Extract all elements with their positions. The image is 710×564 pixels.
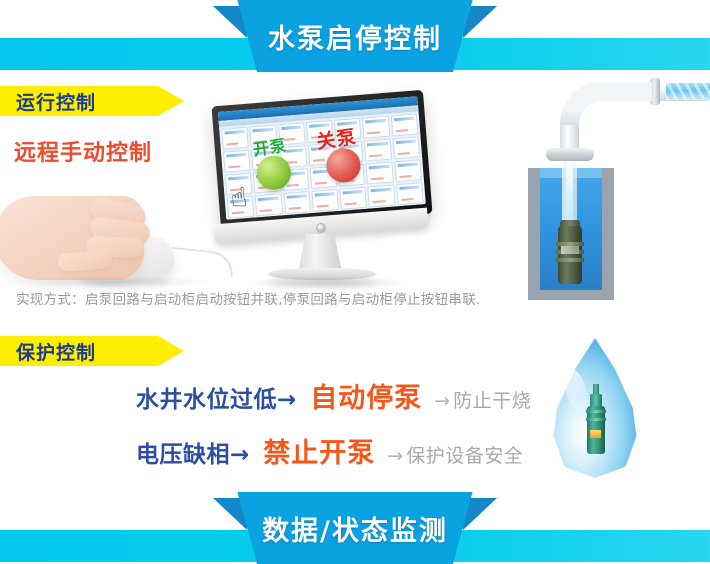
monitor-stand-neck <box>298 234 342 272</box>
top-banner: 水泵启停控制 <box>0 0 710 72</box>
remote-manual-subtitle: 远程手动控制 <box>14 135 152 167</box>
run-control-tag: 运行控制 <box>0 86 184 116</box>
scada-widget <box>362 116 390 139</box>
pump-ring-icon <box>556 258 584 262</box>
finger-icon <box>57 250 112 272</box>
monitor-power-indicator-icon <box>316 223 326 233</box>
scada-widget <box>396 182 424 205</box>
scada-widget <box>283 191 311 214</box>
scada-widget <box>368 184 396 207</box>
monitor-screen: 开泵 关泵 ☝ <box>218 96 426 219</box>
hand-cursor-icon: ☝ <box>230 183 258 215</box>
protection-control-tag-label: 保护控制 <box>16 338 96 365</box>
scada-widget <box>394 159 422 182</box>
scada-widget <box>366 162 394 185</box>
scada-widget <box>392 136 420 159</box>
protection-rule-row: 水井水位过低 → 自动停泵 → 防止干烧 <box>136 376 531 415</box>
protection-control-tag: 保护控制 <box>0 336 184 366</box>
pump-ring-icon <box>586 418 606 421</box>
well-pump-diagram <box>498 70 710 285</box>
rule-reason: 防止干烧 <box>453 386 531 413</box>
pump-nameplate-icon <box>561 246 579 254</box>
scada-widget <box>390 113 418 136</box>
bottom-banner: 数据/状态监测 <box>0 492 710 564</box>
hand-on-mouse-illustration <box>0 180 194 290</box>
rule-condition: 电压缺相 <box>136 435 230 469</box>
rule-action: 自动停泵 <box>310 376 422 415</box>
arrow-right-icon: → <box>434 390 450 412</box>
scada-widget <box>311 189 339 212</box>
water-drop-with-pump-icon <box>540 338 650 488</box>
arrow-right-icon: → <box>387 445 403 467</box>
rule-condition: 水井水位过低 <box>136 380 277 414</box>
rule-action: 禁止开泵 <box>263 431 375 470</box>
scada-widget <box>223 150 251 173</box>
run-control-tag-label: 运行控制 <box>16 88 96 115</box>
scada-widget <box>221 127 249 150</box>
pipe-water-flow-icon <box>666 83 710 100</box>
desktop-monitor-illustration: 开泵 关泵 ☝ <box>204 98 434 288</box>
bottom-banner-title: 数据/状态监测 <box>0 492 710 564</box>
scada-widget <box>364 139 392 162</box>
poster-canvas: 水泵启停控制 运行控制 远程手动控制 <box>0 0 710 564</box>
top-banner-title: 水泵启停控制 <box>0 0 710 72</box>
section-divider <box>14 282 696 283</box>
pipe-flange-icon <box>546 148 594 161</box>
protection-rule-row: 电压缺相 → 禁止开泵 → 保护设备安全 <box>136 431 523 470</box>
rule-reason: 保护设备安全 <box>406 441 523 468</box>
submersible-pump-icon <box>558 226 582 284</box>
pump-nameplate-icon <box>590 430 601 438</box>
arrow-right-icon: → <box>230 442 249 468</box>
scada-widget <box>255 193 283 216</box>
implementation-note: 实现方式：启泵回路与启动柜启动按钮并联,停泵回路与启动柜停止按钮串联. <box>16 288 676 308</box>
arrow-right-icon: → <box>277 387 296 413</box>
pump-ring-icon <box>586 410 606 413</box>
scada-widget <box>339 187 367 210</box>
drop-submersible-pump-icon <box>587 384 605 454</box>
